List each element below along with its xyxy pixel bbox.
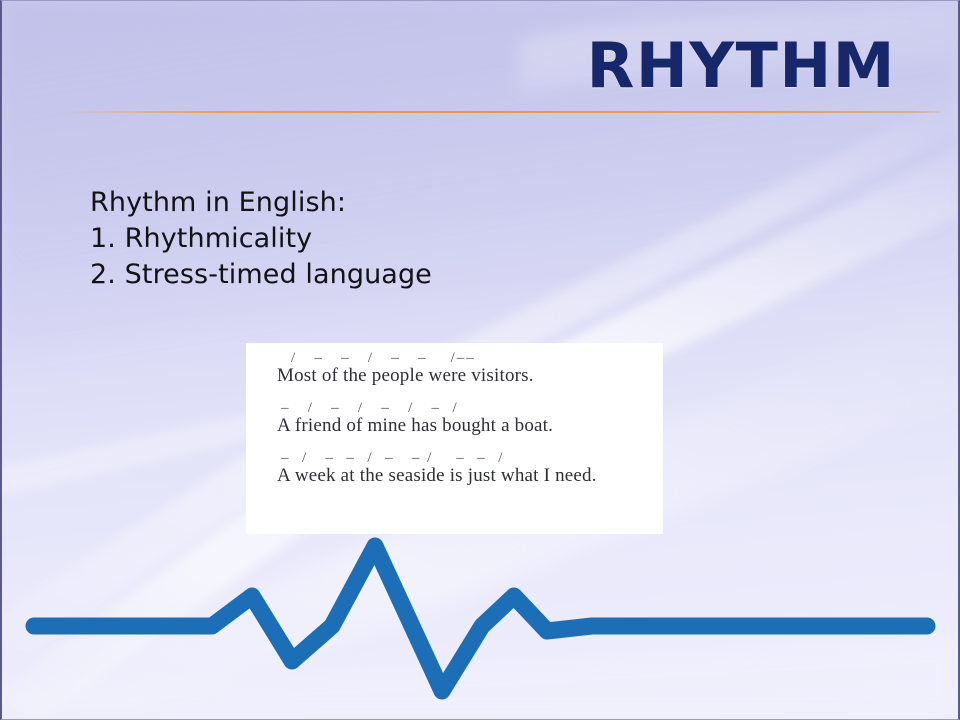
stress-marks-line-1: / – – / – – /––	[291, 350, 662, 366]
waveform-decoration	[2, 521, 960, 720]
scan-line-3: – / – – / – – / – – / A week at the seas…	[247, 450, 662, 486]
body-item-1: 1. Rhythmicality	[90, 221, 432, 257]
body-item-2: 2. Stress-timed language	[90, 257, 432, 293]
presentation-slide: RHYTHM Rhythm in English: 1. Rhythmicali…	[0, 0, 960, 720]
scanned-example-image: / – – / – – /–– Most of the people were …	[247, 344, 662, 533]
waveform-polyline	[34, 546, 927, 691]
body-text-block: Rhythm in English: 1. Rhythmicality 2. S…	[90, 185, 432, 294]
scan-line-2: – / – / – / – / A friend of mine has bou…	[247, 400, 662, 436]
stress-marks-line-2: – / – / – / – /	[281, 400, 662, 416]
scan-line-1: / – – / – – /–– Most of the people were …	[247, 350, 662, 386]
example-sentence-1: Most of the people were visitors.	[277, 366, 662, 386]
example-sentence-2: A friend of mine has bought a boat.	[277, 416, 662, 436]
slide-title-block: RHYTHM	[587, 35, 896, 97]
body-heading: Rhythm in English:	[90, 185, 432, 221]
page-title: RHYTHM	[587, 35, 896, 97]
stress-marks-line-3: – / – – / – – / – – /	[281, 450, 662, 466]
example-sentence-3: A week at the seaside is just what I nee…	[277, 466, 662, 486]
title-divider-rule	[64, 111, 940, 113]
